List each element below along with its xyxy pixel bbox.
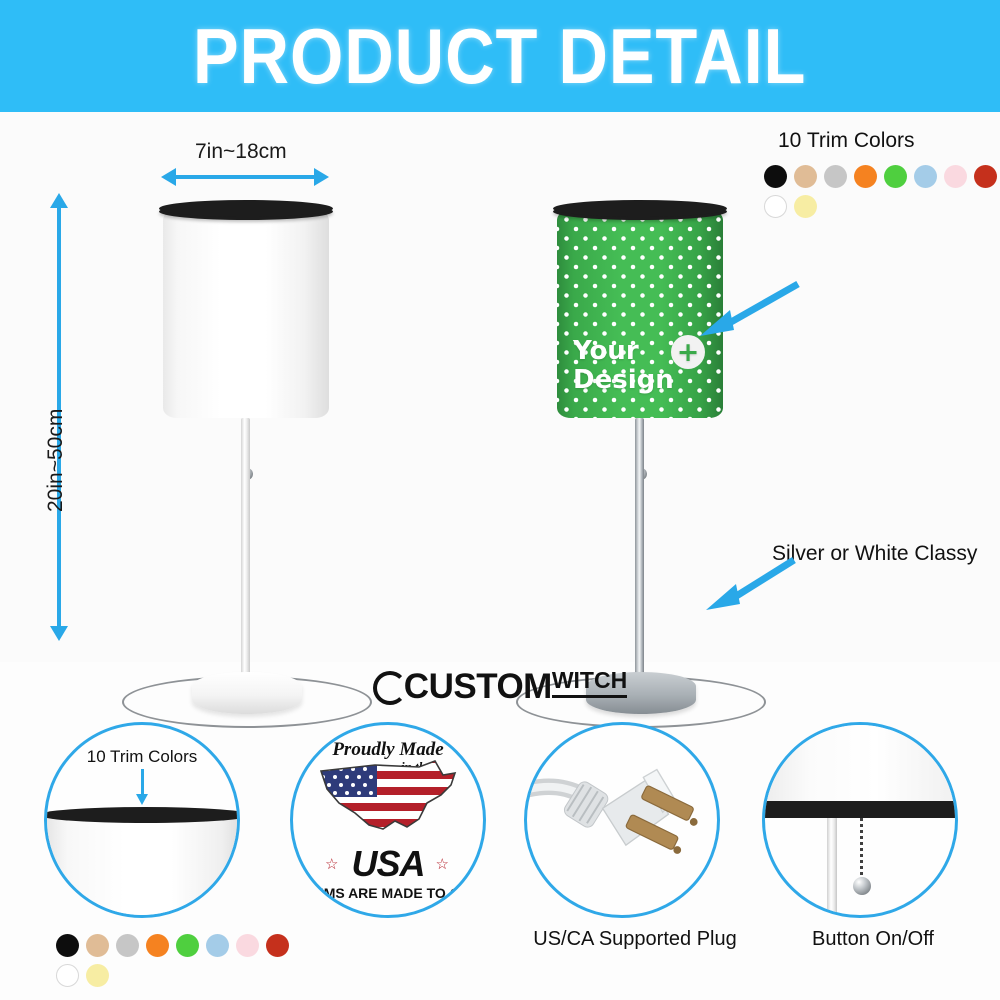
swatch-yellow[interactable] (86, 964, 109, 987)
swatch-pink[interactable] (944, 165, 967, 188)
swatch-light-blue[interactable] (914, 165, 937, 188)
mini-shade-upper (762, 725, 958, 803)
design-line-1: Your (573, 338, 639, 364)
mini-shade-trim (44, 807, 240, 823)
swatch-black[interactable] (764, 165, 787, 188)
mini-lamp-pole (827, 818, 837, 918)
shade-surface (163, 210, 329, 418)
usa-flag-map-icon (315, 755, 467, 843)
swatch-gray[interactable] (116, 934, 139, 957)
plug-caption: US/CA Supported Plug (524, 928, 746, 951)
brand-logo: CUSTOM WITCH (0, 662, 1000, 712)
down-arrow-icon (141, 769, 144, 795)
mini-pull-chain[interactable] (860, 818, 863, 880)
feature-switch: Button On/Off (762, 722, 984, 918)
feature-plug: US/CA Supported Plug (524, 722, 746, 918)
mini-shade-trim (762, 801, 958, 818)
swatch-yellow[interactable] (794, 195, 817, 218)
star-left-icon: ☆ (325, 855, 338, 873)
base-finish-pointer-arrow (700, 554, 800, 614)
product-detail-page: PRODUCT DETAIL 7in~18cm 20in~50cm (0, 0, 1000, 1000)
lamp-shade-white (163, 210, 329, 418)
product-stage: 7in~18cm 20in~50cm Your (0, 112, 1000, 662)
usa-made-to-order: ALL ITEMS ARE MADE TO ORDER! (290, 885, 486, 901)
brand-name-secondary: WITCH (552, 667, 627, 698)
swatch-tan[interactable] (86, 934, 109, 957)
swatch-orange[interactable] (146, 934, 169, 957)
design-line-2: Design (573, 367, 713, 393)
swatch-gray[interactable] (824, 165, 847, 188)
trim-color-swatches-bottom[interactable] (56, 934, 306, 987)
mini-trim-colors-label: 10 Trim Colors (87, 747, 198, 767)
swatch-pink[interactable] (236, 934, 259, 957)
trim-colors-pointer-arrow (694, 280, 804, 340)
page-header-banner: PRODUCT DETAIL (0, 0, 1000, 112)
mini-chain-bead[interactable] (853, 877, 871, 895)
shade-trim-bottom (553, 200, 727, 217)
height-dimension-label: 20in~50cm (44, 409, 68, 512)
swatch-green[interactable] (176, 934, 199, 957)
trim-colors-title: 10 Trim Colors (778, 129, 915, 153)
page-title: PRODUCT DETAIL (193, 11, 807, 102)
swatch-red[interactable] (266, 934, 289, 957)
mini-shade-body (44, 817, 240, 918)
swatch-green[interactable] (884, 165, 907, 188)
width-dimension-label: 7in~18cm (195, 140, 287, 164)
usa-badge: Proudly Made in the (293, 725, 483, 915)
shade-trim-bottom (159, 200, 333, 217)
swatch-white[interactable] (764, 195, 787, 218)
power-plug-icon (527, 725, 717, 915)
base-finish-label: Silver or White Classy (772, 542, 977, 566)
feature-trim-colors: 10 Trim Colors (44, 722, 266, 918)
brand-name-primary: CUSTOM (404, 667, 552, 707)
plus-circle-icon[interactable]: + (671, 335, 705, 369)
swatch-red[interactable] (974, 165, 997, 188)
lamp-pole-silver (635, 418, 644, 700)
trim-color-swatches-top[interactable] (764, 165, 1000, 218)
swatch-white[interactable] (56, 964, 79, 987)
switch-caption: Button On/Off (762, 928, 984, 951)
usa-word: USA (351, 843, 424, 885)
feature-circle (524, 722, 720, 918)
feature-made-in-usa: Proudly Made in the (290, 722, 512, 918)
width-dimension-arrow (175, 175, 315, 179)
lamp-pole-white (241, 418, 250, 700)
feature-circle (762, 722, 958, 918)
c-ring-icon (373, 671, 407, 705)
swatch-tan[interactable] (794, 165, 817, 188)
your-design-overlay: Your + Design (573, 338, 713, 393)
swatch-orange[interactable] (854, 165, 877, 188)
swatch-black[interactable] (56, 934, 79, 957)
feature-circle: Proudly Made in the (290, 722, 486, 918)
swatch-light-blue[interactable] (206, 934, 229, 957)
star-right-icon: ☆ (436, 855, 449, 873)
feature-circle: 10 Trim Colors (44, 722, 240, 918)
